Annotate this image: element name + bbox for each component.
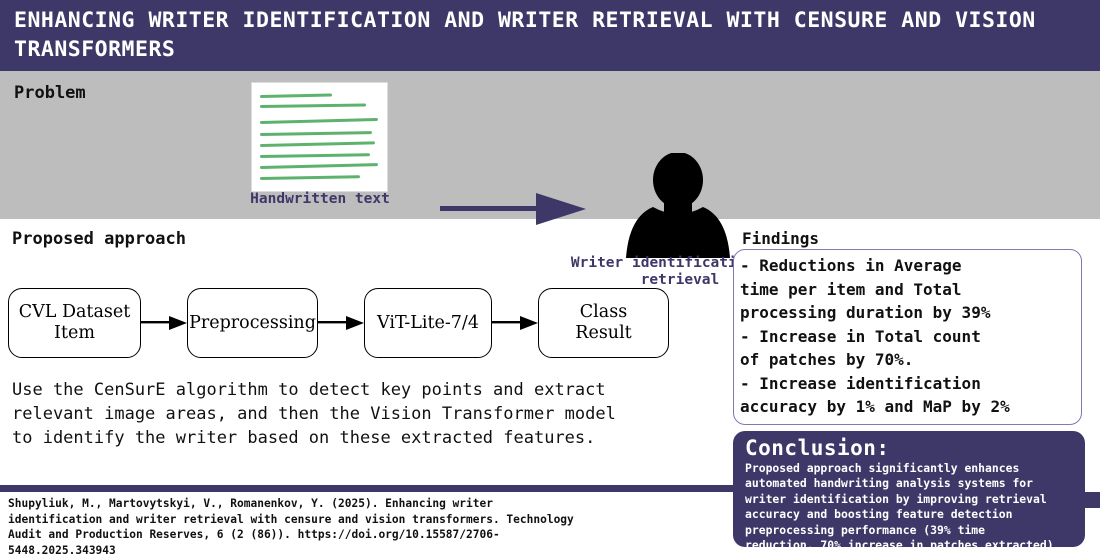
flow-arrow-icon-1 (141, 314, 187, 332)
right-arrow-icon (440, 192, 586, 226)
findings-box: - Reductions in Average time per item an… (733, 249, 1082, 425)
handwritten-text-caption: Handwritten text (180, 191, 460, 207)
problem-section: Problem Handwritten text Writer identi (0, 71, 1100, 219)
page-title: ENHANCING WRITER IDENTIFICATION AND WRIT… (14, 6, 1086, 64)
citation-text: Shupyliuk, M., Martovytskyi, V., Romanen… (8, 496, 724, 558)
flow-box-class-result: Class Result (538, 288, 669, 358)
approach-description: Use the CenSurE algorithm to detect key … (12, 378, 724, 450)
flow-arrow-icon-2 (318, 314, 364, 332)
conclusion-body: Proposed approach significantly enhances… (745, 461, 1075, 553)
conclusion-box: Conclusion: Proposed approach significan… (733, 431, 1085, 547)
approach-heading: Proposed approach (12, 229, 186, 249)
poster-root: ENHANCING WRITER IDENTIFICATION AND WRIT… (0, 0, 1100, 560)
conclusion-heading: Conclusion: (745, 436, 1075, 460)
footer-divider (0, 485, 733, 492)
pipeline-diagram: CVL Dataset Item Preprocessing ViT-Lite-… (8, 288, 669, 358)
handwritten-page-icon (251, 82, 388, 192)
flow-box-vit-lite: ViT-Lite-7/4 (364, 288, 492, 358)
findings-list: - Reductions in Average time per item an… (740, 254, 1075, 419)
flow-box-preprocessing: Preprocessing (187, 288, 318, 358)
person-silhouette-icon (622, 153, 734, 258)
findings-heading: Findings (742, 229, 819, 248)
flow-box-cvl-dataset-item: CVL Dataset Item (8, 288, 141, 358)
flow-arrow-icon-3 (492, 314, 538, 332)
problem-heading: Problem (14, 83, 86, 103)
poster-header: ENHANCING WRITER IDENTIFICATION AND WRIT… (0, 0, 1100, 71)
